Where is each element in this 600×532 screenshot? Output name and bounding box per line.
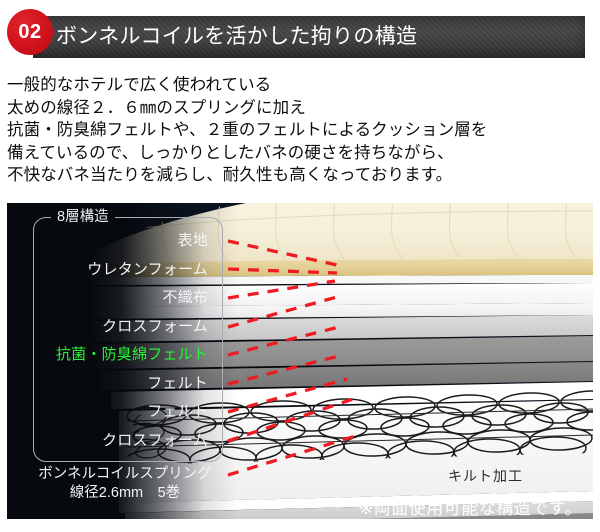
layer-structure-legend: 8層構造: [51, 209, 115, 225]
lead-line: 抗菌・防臭綿フェルトや、２重のフェルトによるクッション層を: [7, 119, 593, 142]
layer-label: フェルト: [33, 370, 216, 399]
section-header: ボンネルコイルを活かした拘りの構造 02: [0, 0, 600, 70]
lead-line: 太めの線径２．６㎜のスプリングに加え: [7, 97, 593, 120]
layer-label: クロスフォーム: [33, 427, 216, 456]
lead-paragraph: 一般的なホテルで広く使われている 太めの線径２．６㎜のスプリングに加え 抗菌・防…: [7, 74, 593, 187]
page-title: ボンネルコイルを活かした拘りの構造: [56, 19, 576, 55]
double-sided-footnote: ※両面使用可能な構造です。: [359, 494, 582, 519]
construction-diagram: キルト加工 8層構造 表地 ウレタンフォーム 不織布 クロスフォーム 抗菌・防臭…: [7, 203, 593, 519]
layer-label: クロスフォーム: [33, 313, 216, 342]
layer-label: 表地: [33, 227, 216, 256]
section-number-badge: 02: [7, 9, 53, 55]
spring-caption: ボンネルコイルスプリング 線径2.6mm 5巻: [25, 465, 225, 503]
lead-line: 一般的なホテルで広く使われている: [7, 74, 593, 97]
lead-line: 不快なバネ当たりを減らし、耐久性も高くなっております。: [7, 164, 593, 187]
layer-label: フェルト: [33, 398, 216, 427]
layer-label-list: 表地 ウレタンフォーム 不織布 クロスフォーム 抗菌・防臭綿フェルト フェルト …: [33, 227, 216, 455]
layer-label: 不織布: [33, 284, 216, 313]
layer-label: ウレタンフォーム: [33, 256, 216, 285]
quilt-processing-label: キルト加工: [448, 466, 523, 486]
lead-line: 備えているので、しっかりとしたバネの硬さを持ちながら、: [7, 142, 593, 165]
spring-caption-line: ボンネルコイルスプリング: [25, 465, 225, 484]
spring-caption-line: 線径2.6mm 5巻: [25, 484, 225, 503]
layer-label-highlighted: 抗菌・防臭綿フェルト: [33, 341, 216, 370]
